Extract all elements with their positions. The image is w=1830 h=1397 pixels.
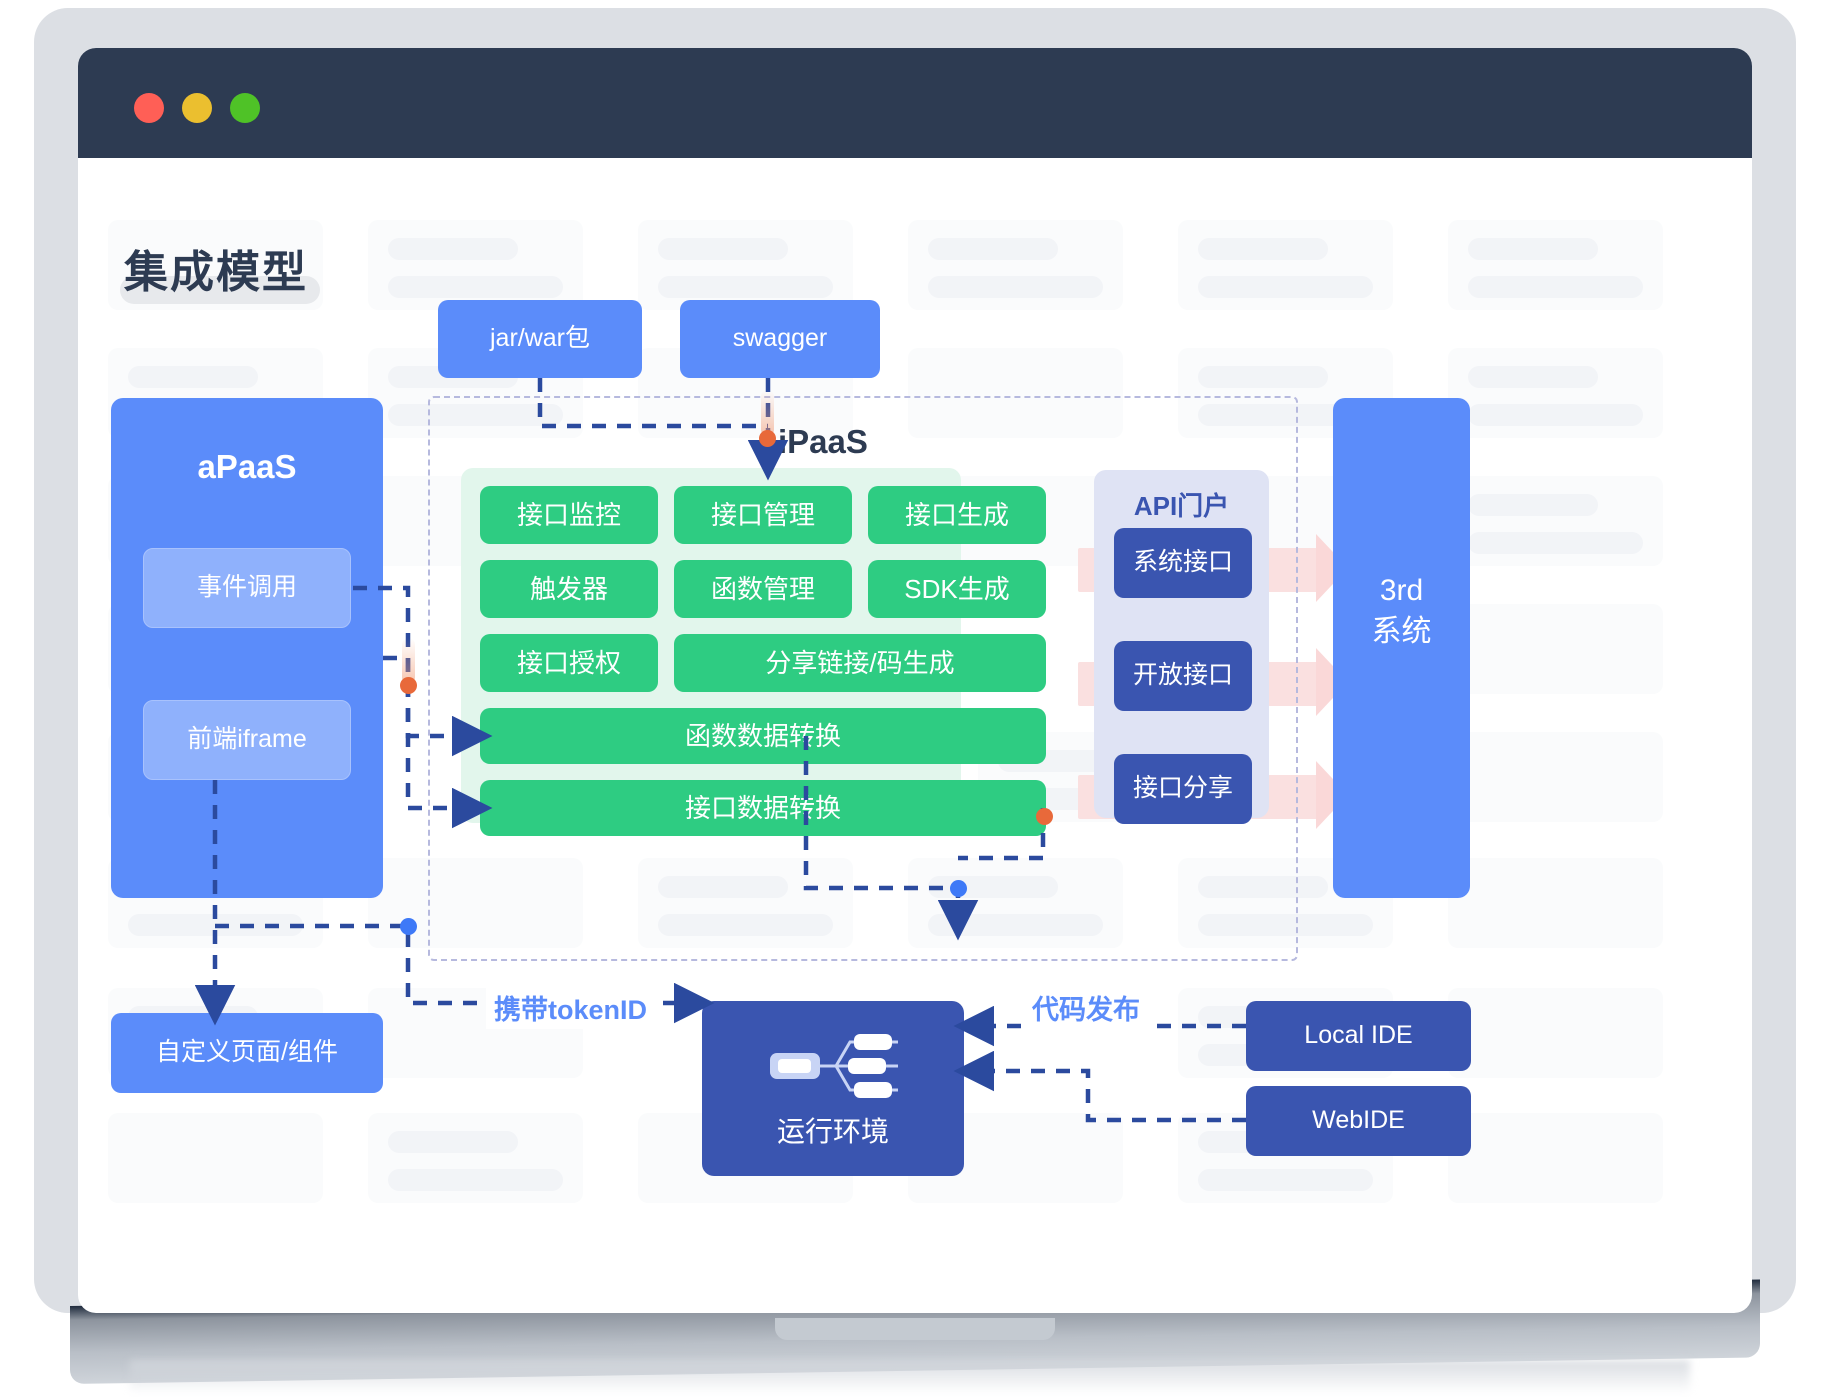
laptop-base-notch xyxy=(775,1318,1055,1340)
window-titlebar xyxy=(78,48,1752,158)
flow-marker-blue xyxy=(400,918,417,935)
diagram-canvas: 集成模型 iPaaS API门户 a xyxy=(78,158,1752,1313)
screenshot-root: 集成模型 iPaaS API门户 a xyxy=(0,0,1830,1397)
laptop-screen: 集成模型 iPaaS API门户 a xyxy=(78,48,1752,1313)
edge-label-token: 携带tokenID xyxy=(486,986,655,1029)
flow-marker-orange xyxy=(1036,808,1053,825)
laptop-base-shadow xyxy=(130,1360,1690,1394)
flow-marker-blue xyxy=(950,880,967,897)
maximize-icon[interactable] xyxy=(230,93,260,123)
close-icon[interactable] xyxy=(134,93,164,123)
flow-marker-orange xyxy=(759,430,776,447)
minimize-icon[interactable] xyxy=(182,93,212,123)
connector-layer xyxy=(78,158,1752,1313)
edge-label-publish: 代码发布 xyxy=(1024,986,1148,1029)
flow-marker-orange xyxy=(400,677,417,694)
